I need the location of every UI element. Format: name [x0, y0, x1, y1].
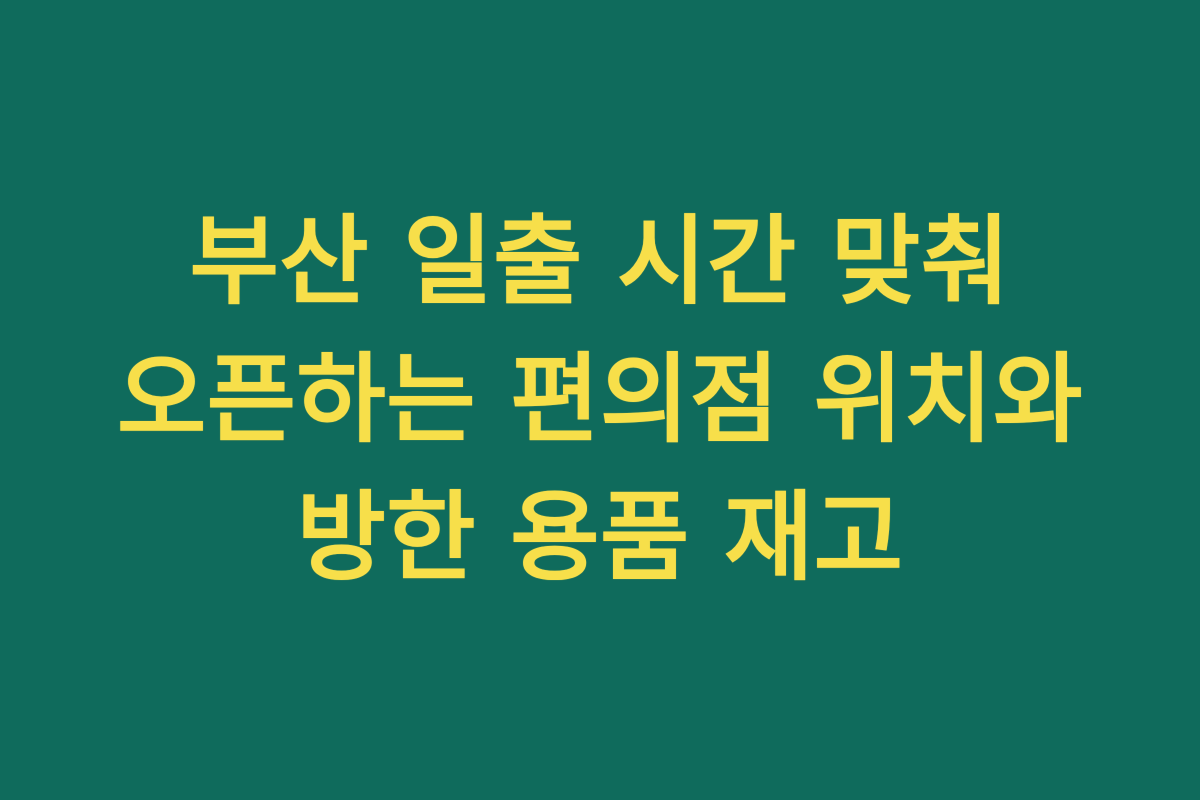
headline-container: 부산 일출 시간 맞춰 오픈하는 편의점 위치와 방한 용품 재고	[95, 193, 1105, 606]
text-banner: 부산 일출 시간 맞춰 오픈하는 편의점 위치와 방한 용품 재고	[0, 0, 1200, 800]
banner-headline: 부산 일출 시간 맞춰 오픈하는 편의점 위치와 방한 용품 재고	[95, 193, 1105, 606]
